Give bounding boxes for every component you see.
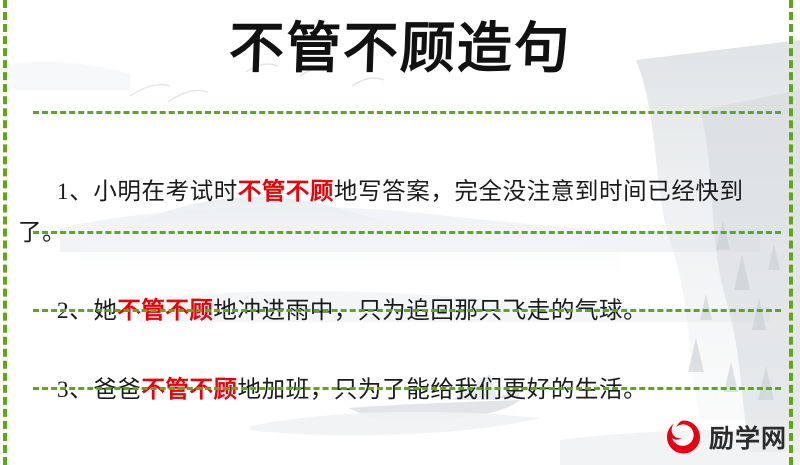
page-title: 不管不顾造句: [228, 14, 572, 83]
sentence-text-after-3: 地加班，只为了能给我们更好的生活。: [238, 377, 648, 403]
brand-watermark: 励学网: [663, 415, 791, 461]
sentence-index-3: 3、: [57, 377, 93, 403]
sentence-keyword-1: 不管不顾: [238, 179, 334, 205]
sentence-text-before-3: 爸爸: [93, 377, 141, 403]
worksheet-content: 不管不顾造句 1、小明在考试时不管不顾地写答案，完全没注意到时间已经快到了。 2…: [0, 0, 800, 465]
left-dashed-rail: [3, 0, 7, 465]
divider-below-sentence-3: [33, 387, 781, 390]
sentence-worksheet-page: 不管不顾造句 1、小明在考试时不管不顾地写答案，完全没注意到时间已经快到了。 2…: [0, 0, 800, 465]
divider-below-sentence-2: [33, 309, 781, 312]
right-dashed-rail: [789, 0, 793, 465]
sentence-index-1: 1、: [57, 179, 93, 205]
sentence-keyword-3: 不管不顾: [142, 377, 238, 403]
divider-below-sentence-1: [33, 231, 781, 234]
brand-name: 励学网: [709, 426, 787, 451]
page-title-block: 不管不顾造句: [0, 14, 800, 83]
flame-swirl-icon: [663, 418, 703, 458]
divider-above-sentence-1: [33, 111, 781, 114]
sentence-text-before-1: 小明在考试时: [93, 179, 238, 205]
